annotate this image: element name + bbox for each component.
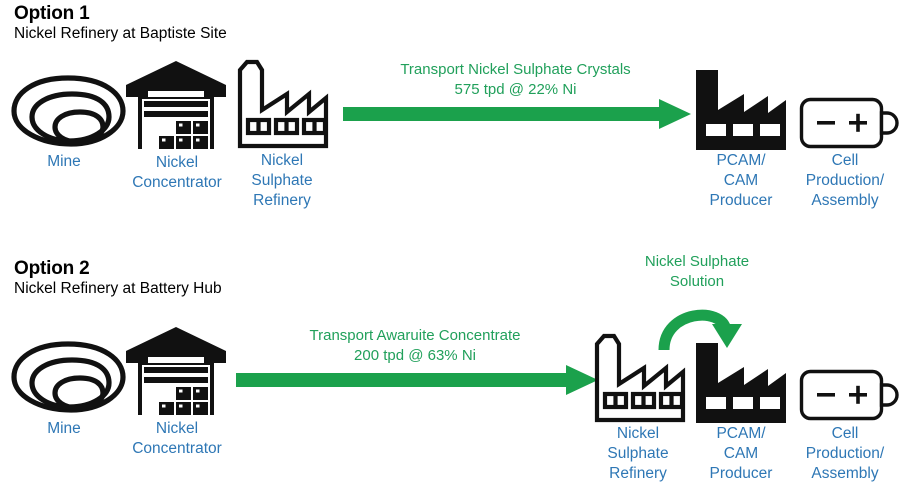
option-2-label-mine: Mine bbox=[0, 419, 128, 439]
open-pit-mine-icon bbox=[8, 72, 128, 152]
node-label-line: CAM bbox=[687, 171, 795, 191]
option-2-node-mine[interactable] bbox=[8, 338, 128, 418]
option-1-label-pcam: PCAM/ CAM Producer bbox=[687, 151, 795, 211]
node-label-line: Production/ bbox=[790, 444, 900, 464]
factory-outline-icon bbox=[588, 332, 690, 424]
option-2-label-concentrator: Nickel Concentrator bbox=[110, 419, 244, 459]
node-label-line: Nickel bbox=[222, 151, 342, 171]
option-1-label-cell: Cell Production/ Assembly bbox=[790, 151, 900, 211]
node-label-line: Production/ bbox=[790, 171, 900, 191]
battery-cell-icon bbox=[799, 369, 891, 421]
node-label-line: Nickel bbox=[578, 424, 698, 444]
node-label-line: Assembly bbox=[790, 464, 900, 484]
option-1-label-mine: Mine bbox=[0, 152, 128, 172]
option-1-transport-arrow[interactable] bbox=[343, 99, 691, 129]
node-label-line: Cell bbox=[790, 151, 900, 171]
option-2-label-pcam: PCAM/ CAM Producer bbox=[687, 424, 795, 484]
node-label-line: PCAM/ bbox=[687, 424, 795, 444]
option-2-node-concentrator[interactable] bbox=[126, 327, 226, 415]
factory-outline-icon bbox=[231, 58, 333, 150]
node-label-line: Producer bbox=[687, 191, 795, 211]
node-label-line: Assembly bbox=[790, 191, 900, 211]
node-label-line: Concentrator bbox=[110, 439, 244, 459]
option-1-node-concentrator[interactable] bbox=[126, 61, 226, 149]
node-label-line: Producer bbox=[687, 464, 795, 484]
option-1-node-refinery[interactable] bbox=[231, 58, 333, 150]
node-label-line: Sulphate bbox=[578, 444, 698, 464]
warehouse-concentrator-icon bbox=[126, 327, 226, 415]
option-1-subtitle: Nickel Refinery at Baptiste Site bbox=[14, 25, 227, 43]
option-2-node-cell[interactable] bbox=[799, 369, 891, 421]
node-label-line: CAM bbox=[687, 444, 795, 464]
arrow-caption-line: 575 tpd @ 22% Ni bbox=[358, 80, 673, 100]
warehouse-concentrator-icon bbox=[126, 61, 226, 149]
option-2-subtitle: Nickel Refinery at Battery Hub bbox=[14, 280, 222, 298]
arrow-caption-line: Transport Nickel Sulphate Crystals bbox=[358, 60, 673, 80]
option-2-node-pcam[interactable] bbox=[692, 339, 790, 423]
battery-cell-icon bbox=[799, 97, 891, 149]
node-label-line: Mine bbox=[0, 152, 128, 172]
right-arrow-icon bbox=[236, 365, 598, 395]
arrow-caption-line: 200 tpd @ 63% Ni bbox=[265, 346, 565, 366]
option-2-label-cell: Cell Production/ Assembly bbox=[790, 424, 900, 484]
option-1-title: Option 1 bbox=[14, 3, 227, 25]
node-label-line: Nickel bbox=[110, 419, 244, 439]
node-label-line: Sulphate bbox=[222, 171, 342, 191]
factory-solid-icon bbox=[692, 66, 790, 150]
option-1-node-mine[interactable] bbox=[8, 72, 128, 152]
node-label-line: Mine bbox=[0, 419, 128, 439]
node-label-line: Refinery bbox=[222, 191, 342, 211]
arrow-caption-line: Transport Awaruite Concentrate bbox=[265, 326, 565, 346]
option-1-label-refinery: Nickel Sulphate Refinery bbox=[222, 151, 342, 211]
option-2-label-refinery: Nickel Sulphate Refinery bbox=[578, 424, 698, 484]
factory-solid-icon bbox=[692, 339, 790, 423]
right-arrow-icon bbox=[343, 99, 691, 129]
node-label-line: PCAM/ bbox=[687, 151, 795, 171]
option-2-transport-arrow[interactable] bbox=[236, 365, 598, 395]
option-1-heading-block: Option 1 Nickel Refinery at Baptiste Sit… bbox=[14, 3, 227, 43]
option-2-node-refinery[interactable] bbox=[588, 332, 690, 424]
node-label-line: Cell bbox=[790, 424, 900, 444]
option-1-node-cell[interactable] bbox=[799, 97, 891, 149]
option-2-arrow-caption: Transport Awaruite Concentrate 200 tpd @… bbox=[265, 326, 565, 366]
diagram-canvas: Option 1 Nickel Refinery at Baptiste Sit… bbox=[0, 0, 900, 487]
option-2-curved-arrow-caption: Nickel Sulphate Solution bbox=[612, 252, 782, 292]
curve-caption-line: Solution bbox=[612, 272, 782, 292]
option-2-heading-block: Option 2 Nickel Refinery at Battery Hub bbox=[14, 258, 222, 298]
node-label-line: Refinery bbox=[578, 464, 698, 484]
option-1-node-pcam[interactable] bbox=[692, 66, 790, 150]
open-pit-mine-icon bbox=[8, 338, 128, 418]
curve-caption-line: Nickel Sulphate bbox=[612, 252, 782, 272]
option-1-arrow-caption: Transport Nickel Sulphate Crystals 575 t… bbox=[358, 60, 673, 100]
option-2-title: Option 2 bbox=[14, 258, 222, 280]
